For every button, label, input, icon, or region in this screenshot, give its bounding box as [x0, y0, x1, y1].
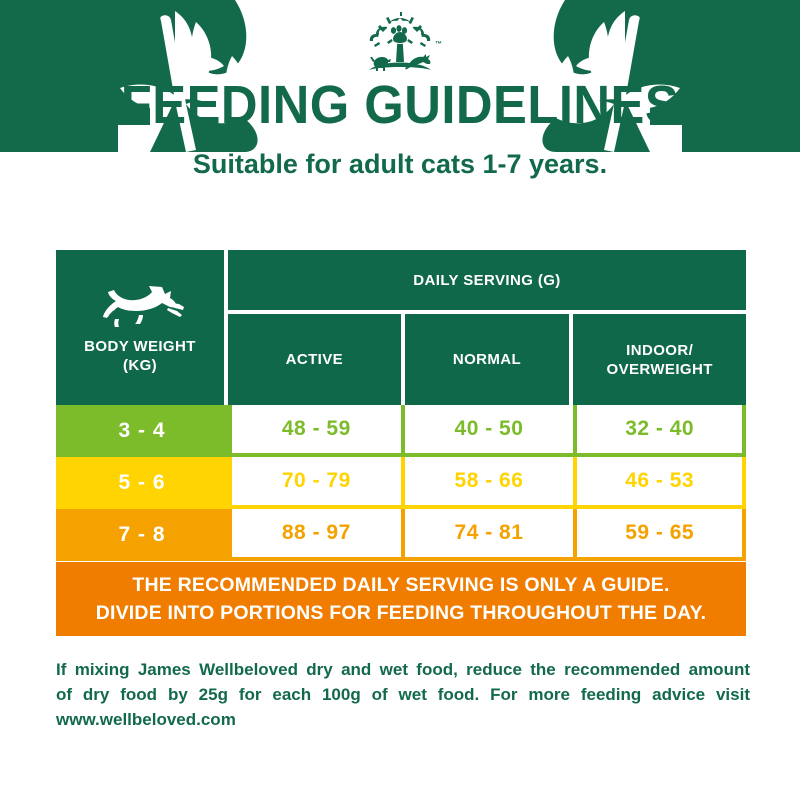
column-header-active: ACTIVE [228, 314, 401, 405]
row-indoor-value: 46 - 53 [573, 457, 746, 509]
row-weight-value: 7 - 8 [56, 509, 228, 561]
row-normal-value: 40 - 50 [401, 405, 574, 457]
daily-serving-header-cell: DAILY SERVING (G) [228, 250, 746, 314]
footer-line-2: of dry food by 25g for each 100g of wet … [56, 682, 750, 707]
footer-note: If mixing James Wellbeloved dry and wet … [56, 657, 750, 732]
table-row: 5 - 6 70 - 79 58 - 66 46 - 53 [56, 457, 746, 509]
row-active-value: 88 - 97 [228, 509, 401, 561]
column-header-indoor-line1: INDOOR/ [626, 342, 693, 359]
table-header-row: BODY WEIGHT (KG) DAILY SERVING (G) [56, 250, 746, 314]
leaping-cat-icon [92, 281, 188, 327]
feeding-guidelines-table: BODY WEIGHT (KG) DAILY SERVING (G) ACTIV… [56, 250, 746, 561]
body-weight-header-line1: BODY WEIGHT [56, 337, 224, 356]
row-weight-value: 5 - 6 [56, 457, 228, 509]
row-indoor-value: 32 - 40 [573, 405, 746, 457]
column-header-normal: NORMAL [401, 314, 574, 405]
column-header-indoor-overweight: INDOOR/ OVERWEIGHT [573, 314, 746, 405]
page-subtitle: Suitable for adult cats 1-7 years. [0, 148, 800, 180]
body-weight-header-line2: (KG) [56, 356, 224, 375]
callout-line-1: THE RECOMMENDED DAILY SERVING IS ONLY A … [132, 571, 669, 599]
page-title: FEEDING GUIDELINES [24, 76, 776, 134]
table-row: 3 - 4 48 - 59 40 - 50 32 - 40 [56, 405, 746, 457]
row-indoor-value: 59 - 65 [573, 509, 746, 561]
svg-text:™: ™ [435, 41, 442, 48]
footer-line-3: www.wellbeloved.com [56, 707, 750, 732]
footer-line-1: If mixing James Wellbeloved dry and wet … [56, 657, 750, 682]
row-weight-value: 3 - 4 [56, 405, 228, 457]
row-active-value: 70 - 79 [228, 457, 401, 509]
row-normal-value: 74 - 81 [401, 509, 574, 561]
james-wellbeloved-tree-logo: ™ [353, 12, 447, 76]
table-row: 7 - 8 88 - 97 74 - 81 59 - 65 [56, 509, 746, 561]
callout-line-2: DIVIDE INTO PORTIONS FOR FEEDING THROUGH… [96, 599, 707, 627]
row-active-value: 48 - 59 [228, 405, 401, 457]
body-weight-header-cell: BODY WEIGHT (KG) [56, 250, 228, 405]
row-normal-value: 58 - 66 [401, 457, 574, 509]
recommended-serving-callout: THE RECOMMENDED DAILY SERVING IS ONLY A … [56, 562, 746, 636]
column-header-indoor-line2: OVERWEIGHT [607, 361, 713, 378]
